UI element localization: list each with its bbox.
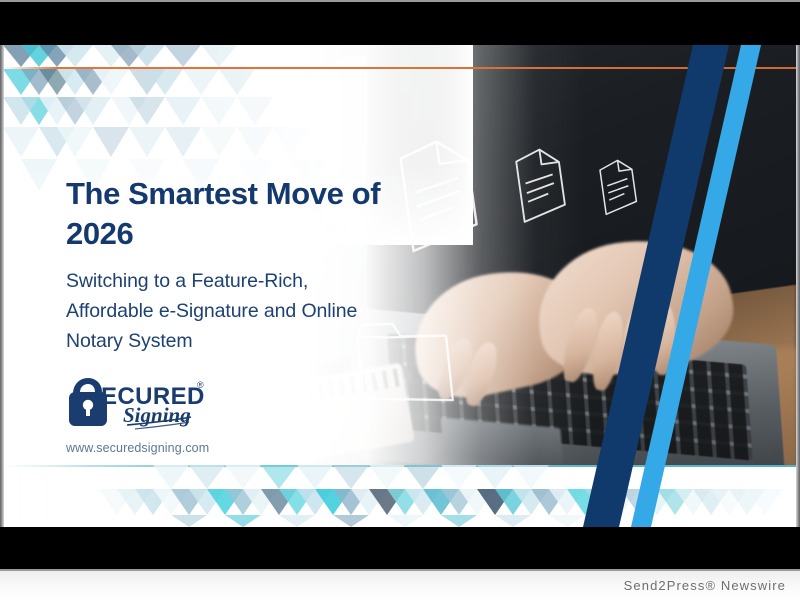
banner-image: The Smartest Move of 2026 Switching to a… — [0, 0, 800, 600]
page-title: The Smartest Move of 2026 — [66, 174, 396, 253]
triangle-mosaic-bottom — [3, 463, 797, 527]
frame-edge-right — [796, 45, 800, 527]
letterbox-top — [0, 0, 800, 45]
registered-mark: ® — [197, 380, 204, 390]
laptop-photo — [237, 45, 797, 467]
letterbox-bottom — [0, 527, 800, 571]
website-url[interactable]: www.securedsigning.com — [66, 441, 209, 455]
orange-divider-line — [3, 67, 797, 69]
newswire-credit: Send2Press® Newswire — [624, 578, 786, 593]
page-subtitle: Switching to a Feature-Rich, Affordable … — [66, 266, 391, 357]
teal-divider-line — [3, 465, 797, 467]
logo-artwork: ECURED ® Signing — [65, 372, 215, 432]
frame-edge-left — [0, 45, 4, 527]
banner-canvas: The Smartest Move of 2026 Switching to a… — [3, 45, 797, 527]
secured-signing-logo[interactable]: ECURED ® Signing — [65, 372, 215, 437]
